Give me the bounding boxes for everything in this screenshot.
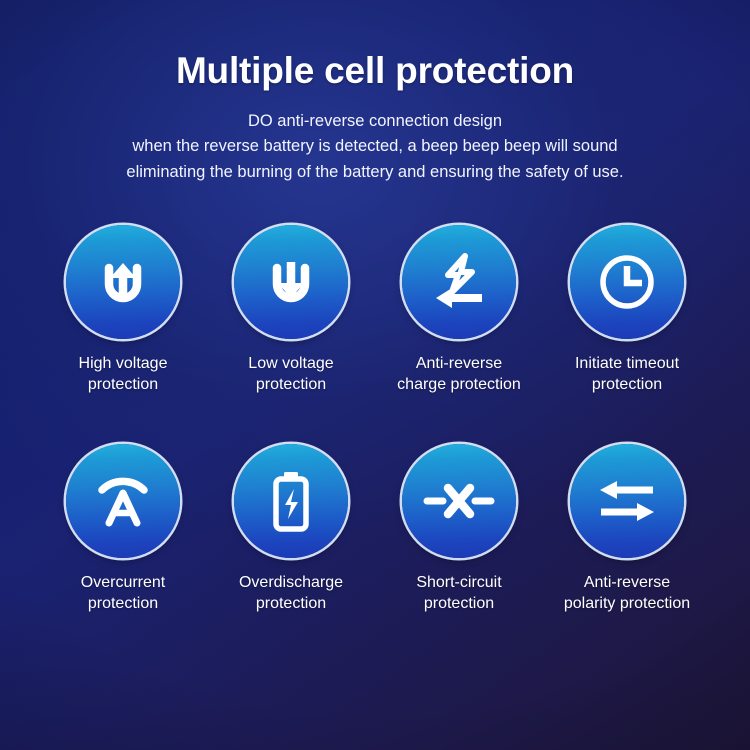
- feature-short-circuit[interactable]: Short-circuit protection: [375, 444, 543, 614]
- feature-badge: [66, 444, 180, 558]
- u-arrow-up-icon: [95, 253, 151, 311]
- feature-anti-reverse-charge[interactable]: Anti-reverse charge protection: [375, 225, 543, 395]
- feature-label: Overcurrent protection: [81, 572, 165, 614]
- page-title: Multiple cell protection: [0, 50, 750, 93]
- ampere-arc-icon: [92, 473, 154, 529]
- feature-row-1: High voltage protection Low volta: [0, 225, 750, 395]
- poster-header: Multiple cell protection DO anti-reverse…: [0, 0, 750, 185]
- subtitle-line-1: DO anti-reverse connection design: [0, 109, 750, 135]
- feature-label: Initiate timeout protection: [575, 353, 679, 395]
- feature-badge: [570, 225, 684, 339]
- feature-badge: [402, 444, 516, 558]
- feature-badge: [234, 444, 348, 558]
- feature-badge: [234, 225, 348, 339]
- subtitle-line-2: when the reverse battery is detected, a …: [0, 134, 750, 160]
- feature-label: Overdischarge protection: [239, 572, 343, 614]
- feature-high-voltage[interactable]: High voltage protection: [39, 225, 207, 395]
- feature-label: Anti-reverse polarity protection: [564, 572, 690, 614]
- feature-label: Anti-reverse charge protection: [397, 353, 521, 395]
- two-way-arrows-icon: [596, 477, 658, 525]
- feature-badge: [66, 225, 180, 339]
- lightning-arrow-left-icon: [428, 251, 490, 313]
- feature-initiate-timeout[interactable]: Initiate timeout protection: [543, 225, 711, 395]
- feature-overcurrent[interactable]: Overcurrent protection: [39, 444, 207, 614]
- feature-label: Low voltage protection: [248, 353, 333, 395]
- feature-badge: [402, 225, 516, 339]
- broken-circuit-x-icon: [424, 484, 494, 518]
- feature-row-2: Overcurrent protection: [0, 444, 750, 614]
- feature-label: High voltage protection: [79, 353, 168, 395]
- feature-badge: [570, 444, 684, 558]
- feature-grid: High voltage protection Low volta: [0, 225, 750, 614]
- clock-icon: [598, 253, 656, 311]
- poster-content: Multiple cell protection DO anti-reverse…: [0, 0, 750, 750]
- marketing-poster: Multiple cell protection DO anti-reverse…: [0, 0, 750, 750]
- u-arrow-down-icon: [263, 253, 319, 311]
- feature-anti-reverse-polarity[interactable]: Anti-reverse polarity protection: [543, 444, 711, 614]
- page-subtitle: DO anti-reverse connection design when t…: [0, 93, 750, 186]
- feature-overdischarge[interactable]: Overdischarge protection: [207, 444, 375, 614]
- feature-label: Short-circuit protection: [416, 572, 501, 614]
- feature-low-voltage[interactable]: Low voltage protection: [207, 225, 375, 395]
- subtitle-line-3: eliminating the burning of the battery a…: [0, 160, 750, 186]
- battery-bolt-icon: [269, 470, 313, 532]
